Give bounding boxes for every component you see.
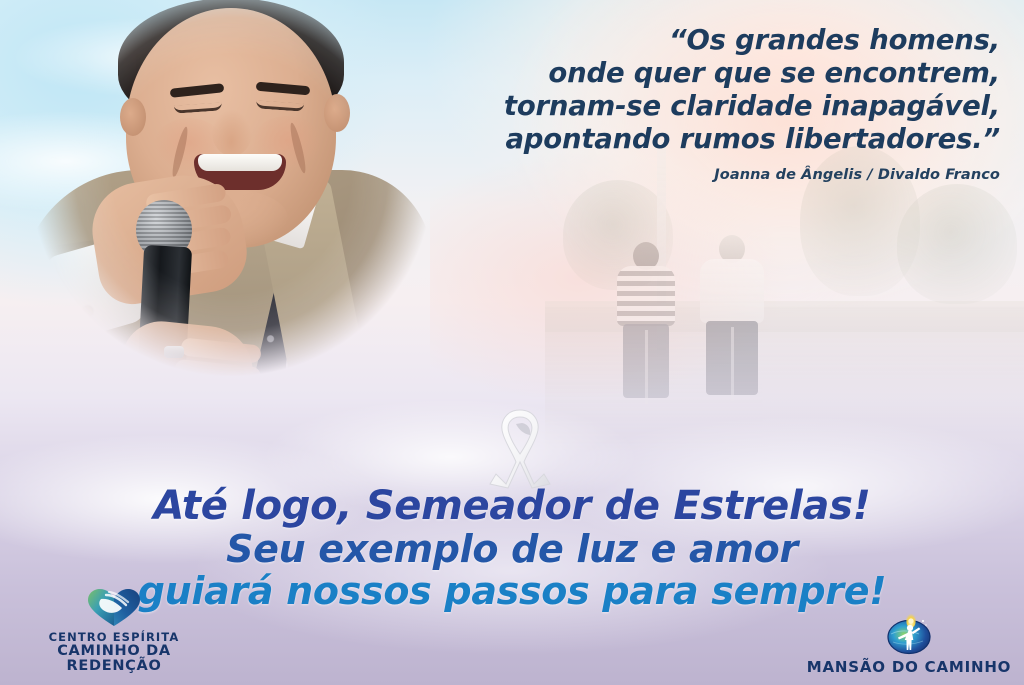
logo-left-line-1: CENTRO ESPÍRITA: [14, 631, 214, 643]
portrait-fade-mask: [8, 0, 438, 444]
logo-left-text: CENTRO ESPÍRITA CAMINHO DA REDENÇÃO: [14, 631, 214, 675]
quote-line-3: tornam-se claridade inapagável,: [420, 90, 1000, 123]
logo-left-line-2: CAMINHO DA REDENÇÃO: [14, 644, 214, 675]
portrait-ear-right: [324, 94, 350, 132]
globe-figure-torch-icon: [885, 612, 933, 656]
logo-right-text: MANSÃO DO CAMINHO: [807, 659, 1011, 675]
scene-person-white-shirt: [700, 235, 764, 407]
portrait-teeth: [198, 154, 282, 171]
portrait-hand-holding-microphone: [115, 317, 258, 438]
person-legs: [623, 324, 669, 398]
logo-mansao-do-caminho: MANSÃO DO CAMINHO: [804, 612, 1014, 675]
faded-walking-scene: [545, 140, 1024, 450]
headline-line-2: Seu exemplo de luz e amor: [0, 528, 1024, 570]
person-torso: [617, 266, 675, 326]
logo-centro-espirita-caminho-da-redencao: CENTRO ESPÍRITA CAMINHO DA REDENÇÃO: [14, 588, 214, 675]
person-torso: [700, 259, 764, 323]
scene-tree: [897, 184, 1017, 304]
quote-attribution: Joanna de Ângelis / Divaldo Franco: [420, 167, 1000, 183]
white-ribbon-icon: [486, 404, 554, 490]
portrait-cuff-button: [82, 306, 93, 317]
finger: [170, 381, 255, 408]
quote-line-4: apontando rumos libertadores.”: [420, 123, 1000, 156]
headline-line-1: Até logo, Semeador de Estrelas!: [0, 484, 1024, 528]
heart-hands-icon: [86, 588, 142, 628]
tribute-poster: “Os grandes homens, onde quer que se enc…: [0, 0, 1024, 685]
quote-line-1: “Os grandes homens,: [420, 24, 1000, 57]
portrait-nose: [212, 110, 252, 156]
scene-person-striped-shirt: [617, 242, 675, 407]
logo-right-line-1: MANSÃO DO CAMINHO: [807, 659, 1011, 675]
portrait-ring: [164, 346, 184, 358]
person-legs: [706, 321, 758, 395]
quote-block: “Os grandes homens, onde quer que se enc…: [420, 24, 1000, 183]
portrait-ear-left: [120, 98, 146, 136]
portrait-photo: [8, 0, 438, 444]
quote-line-2: onde quer que se encontrem,: [420, 57, 1000, 90]
